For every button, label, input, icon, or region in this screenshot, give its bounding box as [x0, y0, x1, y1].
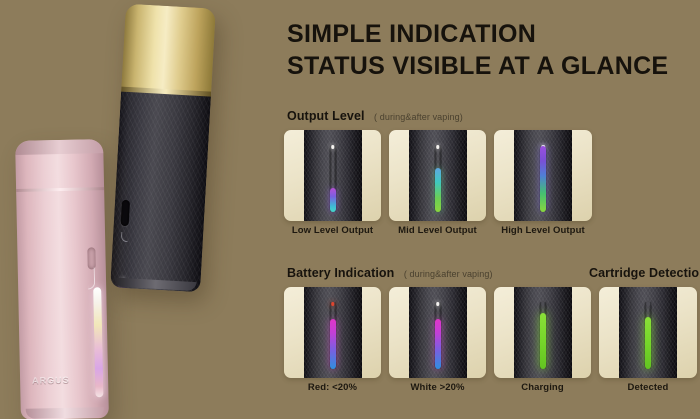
section-subtitle: ( during&after vaping) [404, 269, 493, 279]
battery-panel-charging [494, 287, 591, 378]
led-bar-red-state [330, 319, 336, 369]
caption-low-level: Low Level Output [284, 225, 381, 236]
status-dot-indicator [646, 302, 650, 306]
status-dot-indicator [541, 302, 545, 306]
gold-cap [121, 4, 216, 99]
section-title: Cartridge Detection [589, 266, 700, 280]
section-header-cartridge-detection: Cartridge Detection [589, 264, 700, 282]
led-strip-rainbow [115, 288, 125, 293]
section-header-output-level: Output Level ( during&after vaping) [287, 107, 463, 125]
battery-panel-white [389, 287, 486, 378]
brand-logo: ARGUS [32, 375, 70, 386]
output-level-panel-row [284, 130, 592, 221]
caption-white-above-20: White >20% [389, 382, 486, 393]
led-bar-high [540, 146, 546, 212]
section-header-battery-indication: Battery Indication ( during&after vaping… [287, 264, 493, 282]
headline-line-2: STATUS VISIBLE AT A GLANCE [287, 50, 687, 82]
status-dot-indicator [436, 145, 440, 149]
device-base [114, 278, 196, 292]
led-bar-white-state [435, 319, 441, 369]
device-body [110, 92, 211, 293]
section-title: Battery Indication [287, 266, 394, 280]
led-bar-low [330, 188, 336, 212]
section-title: Output Level [287, 109, 365, 123]
status-dot-indicator [331, 145, 335, 149]
caption-detected: Detected [599, 382, 697, 393]
promo-graphic: ARGUS SIMPLE INDICATION STATUS VISIBLE A… [0, 0, 700, 419]
cap-seam-line [16, 187, 104, 192]
output-panel-high [494, 130, 592, 221]
product-photo-pink-device: ARGUS [18, 140, 106, 419]
output-panel-mid [389, 130, 486, 221]
device-base [26, 407, 104, 419]
status-dot-indicator-white [436, 302, 440, 306]
status-dot-indicator-red [331, 302, 335, 306]
device-top-face [15, 139, 103, 155]
led-bar-detected [645, 317, 651, 369]
usb-port-icon [121, 200, 130, 226]
led-bar-mid [435, 168, 441, 212]
battery-indication-panel-row [284, 287, 697, 378]
page-title: SIMPLE INDICATION STATUS VISIBLE AT A GL… [287, 18, 687, 82]
headline-line-1: SIMPLE INDICATION [287, 18, 687, 50]
caption-high-level: High Level Output [494, 225, 592, 236]
led-strip-rainbow [93, 287, 103, 397]
battery-panel-detected [599, 287, 697, 378]
output-panel-low [284, 130, 381, 221]
caption-mid-level: Mid Level Output [389, 225, 486, 236]
caption-red-below-20: Red: <20% [284, 382, 381, 393]
usb-port-icon [87, 247, 95, 269]
output-level-captions: Low Level Output Mid Level Output High L… [284, 225, 592, 236]
caption-charging: Charging [494, 382, 591, 393]
battery-indication-captions: Red: <20% White >20% Charging Detected [284, 382, 697, 393]
section-subtitle: ( during&after vaping) [374, 112, 463, 122]
product-photo-black-device [118, 6, 208, 290]
battery-panel-red [284, 287, 381, 378]
airflow-notch-icon [121, 232, 129, 242]
airflow-notch-icon [88, 267, 95, 289]
led-bar-charging [540, 313, 546, 369]
